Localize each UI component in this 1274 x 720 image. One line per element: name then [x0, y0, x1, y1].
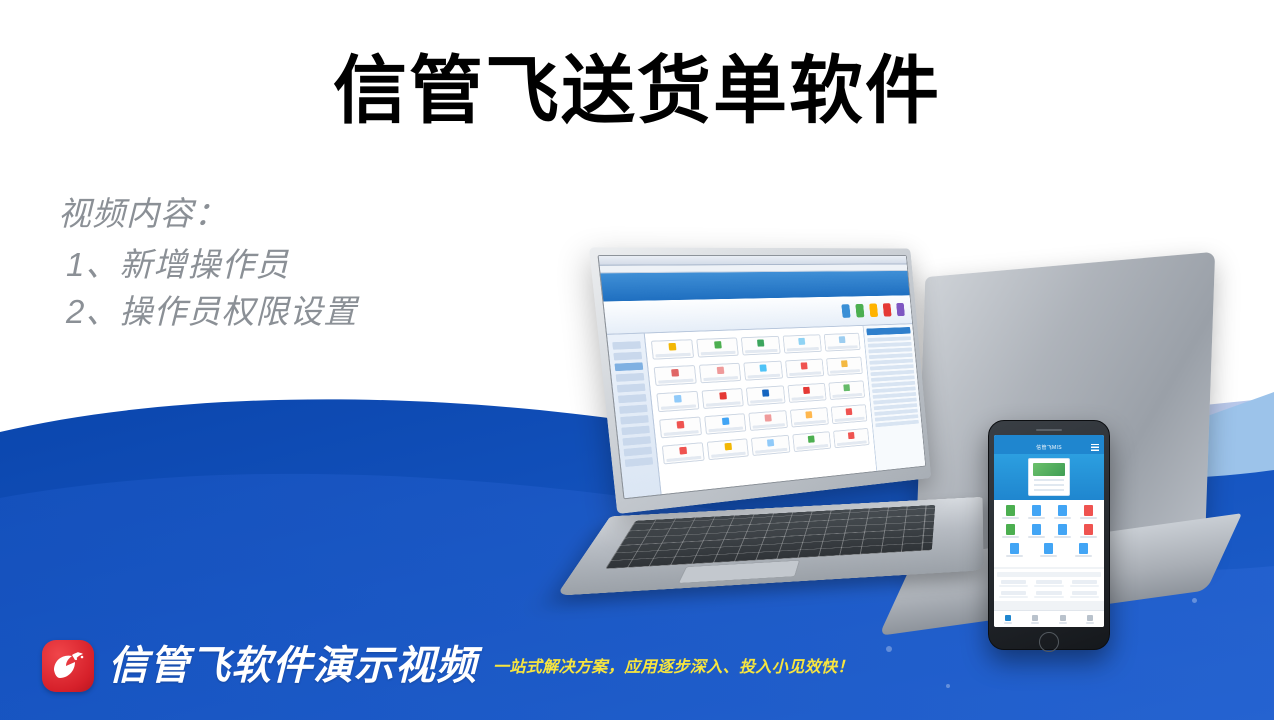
app-grid-icon[interactable] — [699, 363, 741, 384]
laptop-front-image — [590, 240, 1020, 620]
phone-home-button[interactable] — [1039, 632, 1059, 652]
mobile-shortcut-商品盘点单[interactable] — [1006, 543, 1023, 557]
brand-name: 信管飞软件演示视频 — [108, 643, 477, 689]
mobile-tab-document-icon[interactable] — [1022, 611, 1050, 627]
app-grid-icon[interactable] — [828, 380, 865, 400]
stats-cell — [1068, 580, 1101, 587]
mobile-shortcut-全部[interactable] — [1075, 543, 1092, 557]
app-grid-icon[interactable] — [746, 385, 786, 406]
stats-panel-header — [997, 572, 1101, 577]
hero-card-screen — [1033, 463, 1065, 476]
slide-canvas: 信管飞送货单软件 视频内容： 1、新增操作员 2、操作员权限设置 — [0, 0, 1274, 720]
stats-cell — [1032, 580, 1065, 587]
sidebar-row[interactable] — [617, 383, 646, 392]
app-grid-icon[interactable] — [833, 428, 870, 448]
sidebar-row[interactable] — [621, 426, 650, 436]
right-panel-header — [866, 327, 910, 335]
app-grid-icon[interactable] — [830, 404, 867, 424]
sidebar-row[interactable] — [619, 405, 648, 414]
sidebar-row[interactable] — [620, 415, 649, 424]
app-grid-icon[interactable] — [697, 337, 739, 357]
app-grid-icon[interactable] — [662, 442, 705, 464]
laptop-screen — [597, 255, 926, 499]
sidebar-row[interactable] — [613, 352, 642, 361]
app-grid-icon[interactable] — [654, 365, 698, 386]
decorative-dot — [946, 684, 950, 688]
mobile-stats-panel — [994, 569, 1104, 601]
hero-card-line — [1034, 484, 1064, 486]
toolbar-print-icon[interactable] — [883, 303, 892, 316]
mobile-tab-bar[interactable] — [994, 610, 1104, 627]
mobile-app-title: 信管飞MIS — [1036, 444, 1062, 451]
laptop-keyboard — [605, 505, 935, 569]
stats-grid — [997, 580, 1101, 598]
sidebar-row[interactable] — [618, 394, 647, 403]
app-grid-icon[interactable] — [783, 334, 822, 353]
stats-cell — [1068, 591, 1101, 598]
app-icon-grid[interactable] — [651, 333, 870, 465]
app-grid-icon[interactable] — [748, 410, 788, 431]
mobile-shortcut-采购入库单[interactable] — [1028, 524, 1045, 538]
mobile-app-shortcut-grid[interactable] — [994, 500, 1104, 567]
video-content-list: 视频内容： 1、新增操作员 2、操作员权限设置 — [58, 190, 357, 335]
sidebar-row[interactable] — [612, 341, 641, 350]
decorative-dot — [1192, 598, 1197, 603]
toolbar-delete-icon[interactable] — [869, 304, 878, 318]
app-main-area — [645, 326, 877, 497]
smartphone-image: 信管飞MIS — [988, 420, 1110, 650]
video-content-item-2: 2、操作员权限设置 — [58, 288, 357, 335]
phone-screen: 信管飞MIS — [994, 435, 1104, 627]
brand-tagline: 一站式解决方案，应用逐步深入、投入小见效快！ — [493, 653, 854, 680]
app-grid-icon[interactable] — [785, 359, 824, 379]
app-grid-icon[interactable] — [707, 438, 749, 460]
mobile-shortcut-采购订单[interactable] — [1002, 524, 1019, 538]
app-grid-icon[interactable] — [656, 391, 699, 412]
mobile-hero-card — [1028, 458, 1070, 496]
app-grid-icon[interactable] — [741, 336, 781, 356]
right-panel-row[interactable] — [867, 336, 911, 342]
stats-cell — [1032, 591, 1065, 598]
sidebar-row[interactable] — [615, 362, 644, 371]
mobile-shortcut-采购明细表[interactable] — [1054, 524, 1071, 538]
app-grid-icon[interactable] — [826, 357, 863, 376]
app-grid-icon[interactable] — [702, 388, 744, 409]
app-grid-icon[interactable] — [790, 407, 828, 427]
app-grid-icon[interactable] — [788, 383, 826, 403]
mobile-shortcut-销售出库单[interactable] — [1028, 505, 1045, 519]
toolbar-new-icon[interactable] — [841, 304, 850, 318]
app-grid-icon[interactable] — [743, 361, 783, 381]
hero-card-line — [1034, 489, 1064, 491]
app-grid-icon[interactable] — [659, 416, 702, 438]
video-content-heading: 视频内容： — [58, 190, 357, 237]
app-grid-icon[interactable] — [823, 333, 860, 352]
mobile-shortcut-row — [997, 505, 1101, 519]
device-mockup-group: 信管飞MIS — [590, 240, 1274, 640]
app-grid-icon[interactable] — [705, 413, 747, 434]
sidebar-row[interactable] — [622, 436, 651, 446]
toolbar-edit-icon[interactable] — [855, 304, 864, 318]
video-content-item-1: 1、新增操作员 — [58, 241, 357, 288]
xinguanfei-bird-logo-icon — [42, 640, 94, 692]
decorative-dot — [886, 646, 892, 652]
sidebar-row[interactable] — [625, 457, 653, 467]
mobile-shortcut-销售订单[interactable] — [1002, 505, 1019, 519]
page-title: 信管飞送货单软件 — [0, 48, 1274, 134]
mobile-shortcut-销售查询表[interactable] — [1080, 505, 1097, 519]
desktop-app-window — [599, 256, 926, 498]
sidebar-row[interactable] — [616, 373, 645, 382]
app-grid-icon[interactable] — [751, 435, 791, 456]
brand-footer: 信管飞软件演示视频 一站式解决方案，应用逐步深入、投入小见效快！ — [42, 640, 854, 692]
app-grid-icon[interactable] — [793, 431, 831, 452]
stats-cell — [997, 591, 1030, 598]
stats-cell — [997, 580, 1030, 587]
sidebar-row[interactable] — [624, 447, 653, 457]
mobile-tab-user-icon[interactable] — [1077, 611, 1105, 627]
mobile-shortcut-row — [997, 524, 1101, 538]
mobile-shortcut-row — [997, 543, 1101, 557]
phone-earpiece — [1036, 429, 1062, 431]
mobile-app-header: 信管飞MIS — [994, 441, 1104, 454]
app-grid-icon[interactable] — [651, 339, 695, 360]
hero-card-line — [1034, 479, 1064, 481]
mobile-hero-banner — [994, 454, 1104, 500]
hamburger-menu-icon[interactable] — [1091, 444, 1099, 451]
mobile-shortcut-采购查询表[interactable] — [1080, 524, 1097, 538]
mobile-tab-chart-icon[interactable] — [1049, 611, 1077, 627]
toolbar-exit-icon[interactable] — [896, 303, 905, 316]
mobile-shortcut-银行收支单[interactable] — [1040, 543, 1057, 557]
mobile-tab-home-icon[interactable] — [994, 611, 1022, 627]
laptop-lid — [589, 247, 931, 514]
app-body — [607, 324, 925, 499]
mobile-shortcut-销售明细表[interactable] — [1054, 505, 1071, 519]
